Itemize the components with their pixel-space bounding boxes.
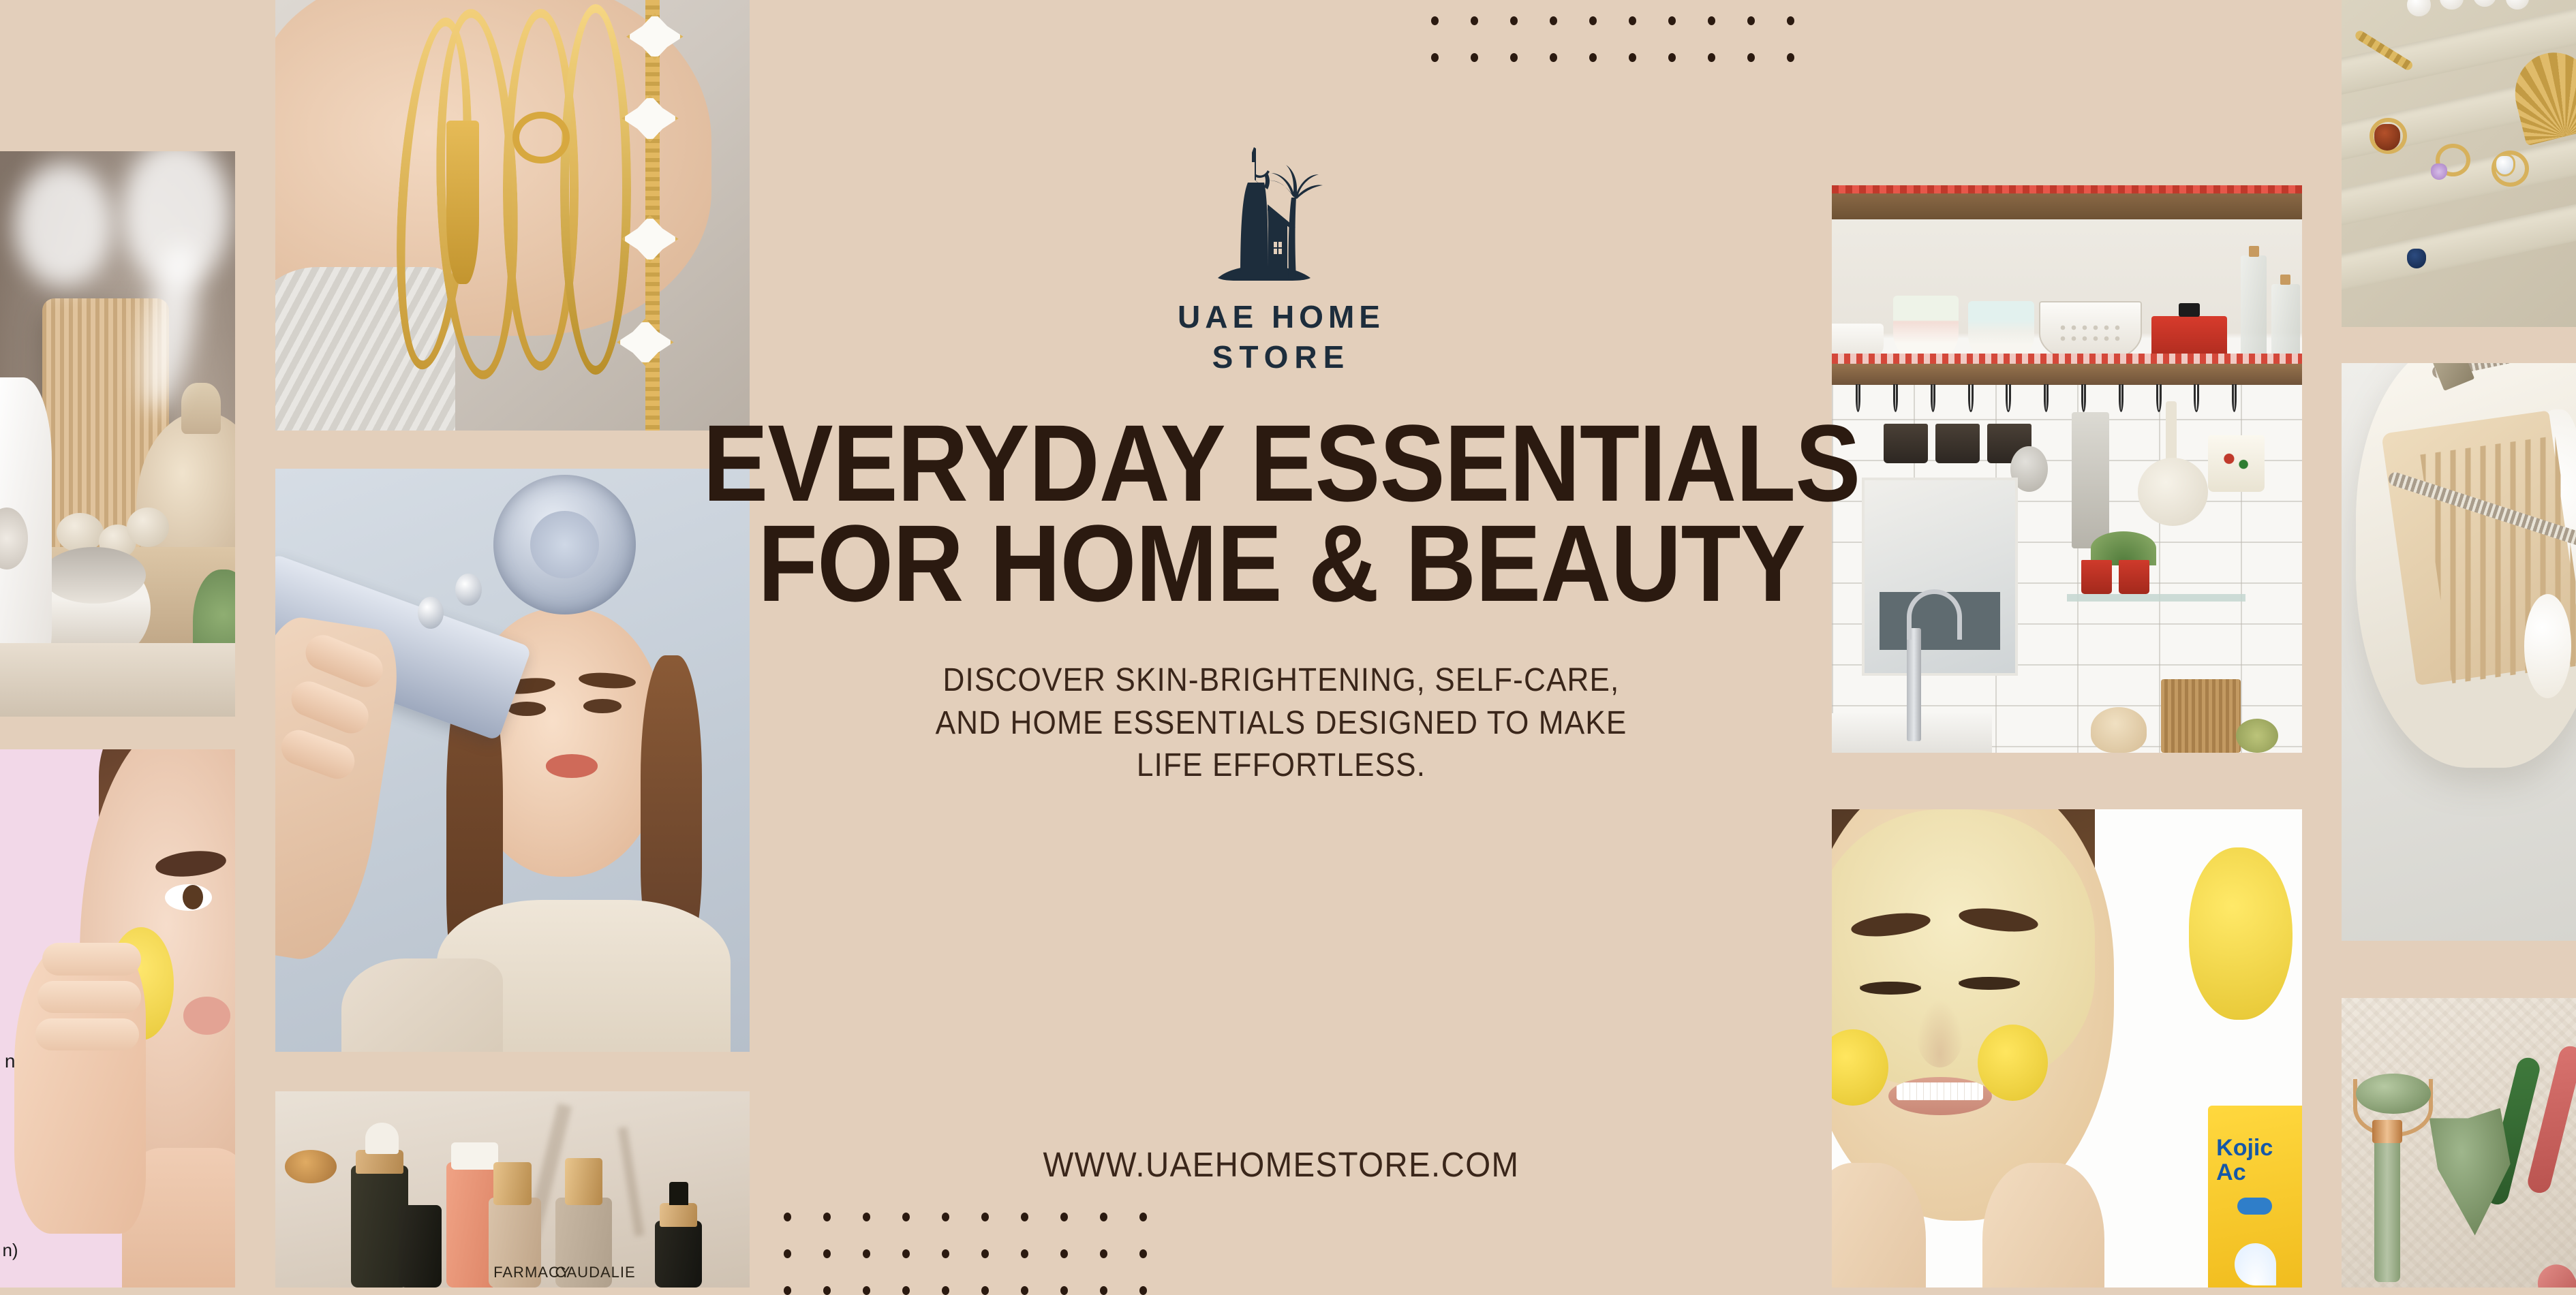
tile-jewelry-organizer-tray [2342,0,2576,327]
product-name-line1: Kojic [2216,1135,2273,1161]
humidifier-scene-art [0,151,235,717]
hero-subheading: DISCOVER SKIN-BRIGHTENING, SELF-CARE, AN… [911,659,1651,787]
tile-gold-jewelry-hand [275,0,750,431]
brand-name: UAE HOME STORE [1178,297,1385,377]
jewelry-tray-art [2342,0,2576,327]
tile-jade-roller-gua-sha [2342,998,2576,1288]
face-mask-art: KojicAc [1832,809,2302,1288]
tile-farmhouse-kitchen-shelf [1832,185,2302,753]
pink-sponge-art: n n) [0,749,235,1288]
tile-wooden-comb-pouch [2342,363,2576,941]
gold-jewelry-art [275,0,750,431]
page-title: EVERYDAY ESSENTIALS FOR HOME & BEAUTY [703,413,1860,613]
comb-pouch-art [2342,363,2576,941]
pink-tile-text-fragment: n [5,1050,16,1072]
brand-logo-block: UAE HOME STORE [1178,144,1385,377]
center-content-column: UAE HOME STORE EVERYDAY ESSENTIALS FOR H… [750,0,1813,1288]
kitchen-shelf-art [1832,185,2302,753]
poster-canvas: n n) [0,0,2576,1288]
tile-humidifier-diffuser [0,151,235,717]
website-url: WWW.UAEHOMESTORE.COM [787,1144,1776,1185]
brand-name-line1: UAE HOME [1178,299,1385,334]
tile-skincare-bottles-marble: FARMACY CAUDALIE [275,1091,750,1288]
burj-palm-house-icon [1203,144,1360,287]
bottle-label-caudalie: CAUDALIE [555,1264,636,1281]
tile-face-mask-sponge: KojicAc [1832,809,2302,1288]
brand-name-line2: STORE [1178,337,1385,377]
tile-pink-sponge-skincare: n n) [0,749,235,1288]
headline-line-2: FOR HOME & BEAUTY [703,513,1860,613]
tile-hair-dryer-styler [275,469,750,1052]
jade-roller-art [2342,998,2576,1288]
product-name-line2: Ac [2216,1159,2245,1185]
hair-dryer-art [275,469,750,1052]
pink-tile-text-fragment-2: n) [2,1240,18,1261]
skincare-bottles-art: FARMACY CAUDALIE [275,1091,750,1288]
kojic-product-pouch: KojicAc [2208,1106,2302,1288]
